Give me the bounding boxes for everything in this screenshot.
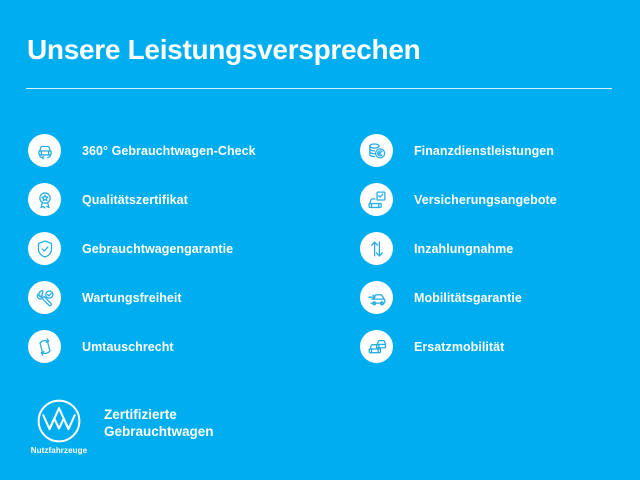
list-item-label: Qualitätszertifikat (82, 193, 188, 207)
list-item[interactable]: Gebrauchtwagengarantie (28, 224, 328, 273)
list-item-label: Ersatzmobilität (414, 340, 504, 354)
shield-check-icon (28, 232, 61, 265)
list-item-label: Umtauschrecht (82, 340, 174, 354)
list-item-label: Gebrauchtwagengarantie (82, 242, 233, 256)
vw-logo-icon (36, 398, 82, 444)
wrench-check-icon (28, 281, 61, 314)
promise-panel: Unsere Leistungsversprechen 360° Gebrauc… (0, 0, 640, 480)
two-cars-icon (360, 330, 393, 363)
arrows-up-down-icon (360, 232, 393, 265)
list-item[interactable]: Versicherungsangebote (360, 175, 630, 224)
list-item[interactable]: Ersatzmobilität (360, 322, 630, 371)
feature-column-left: 360° Gebrauchtwagen-Check Qualitätszerti… (28, 126, 328, 371)
brand-lockup: Nutzfahrzeuge Zertifizierte Gebrauchtwag… (28, 398, 214, 455)
list-item[interactable]: Qualitätszertifikat (28, 175, 328, 224)
brand-tagline-line1: Zertifizierte (104, 407, 177, 422)
brand-mark: Nutzfahrzeuge (28, 398, 90, 455)
coins-euro-icon (360, 134, 393, 167)
brand-tagline-line2: Gebrauchtwagen (104, 424, 214, 439)
list-item-label: Finanzdienstleistungen (414, 144, 554, 158)
list-item[interactable]: Wartungsfreiheit (28, 273, 328, 322)
list-item-label: Mobilitätsgarantie (414, 291, 522, 305)
car-checklist-icon (360, 183, 393, 216)
feature-column-right: Finanzdienstleistungen Versicherungsange… (360, 126, 630, 371)
exchange-arrows-icon (28, 330, 61, 363)
brand-tagline: Zertifizierte Gebrauchtwagen (104, 406, 214, 440)
list-item[interactable]: Mobilitätsgarantie (360, 273, 630, 322)
list-item[interactable]: 360° Gebrauchtwagen-Check (28, 126, 328, 175)
brand-subtitle: Nutzfahrzeuge (31, 446, 87, 455)
list-item[interactable]: Inzahlungnahme (360, 224, 630, 273)
list-item-label: Wartungsfreiheit (82, 291, 182, 305)
list-item[interactable]: Finanzdienstleistungen (360, 126, 630, 175)
car-360-check-icon (28, 134, 61, 167)
car-arrow-icon (360, 281, 393, 314)
list-item-label: 360° Gebrauchtwagen-Check (82, 144, 256, 158)
title-divider (26, 88, 612, 89)
list-item-label: Versicherungsangebote (414, 193, 557, 207)
list-item[interactable]: Umtauschrecht (28, 322, 328, 371)
award-rosette-icon (28, 183, 61, 216)
page-title: Unsere Leistungsversprechen (27, 33, 420, 67)
list-item-label: Inzahlungnahme (414, 242, 513, 256)
